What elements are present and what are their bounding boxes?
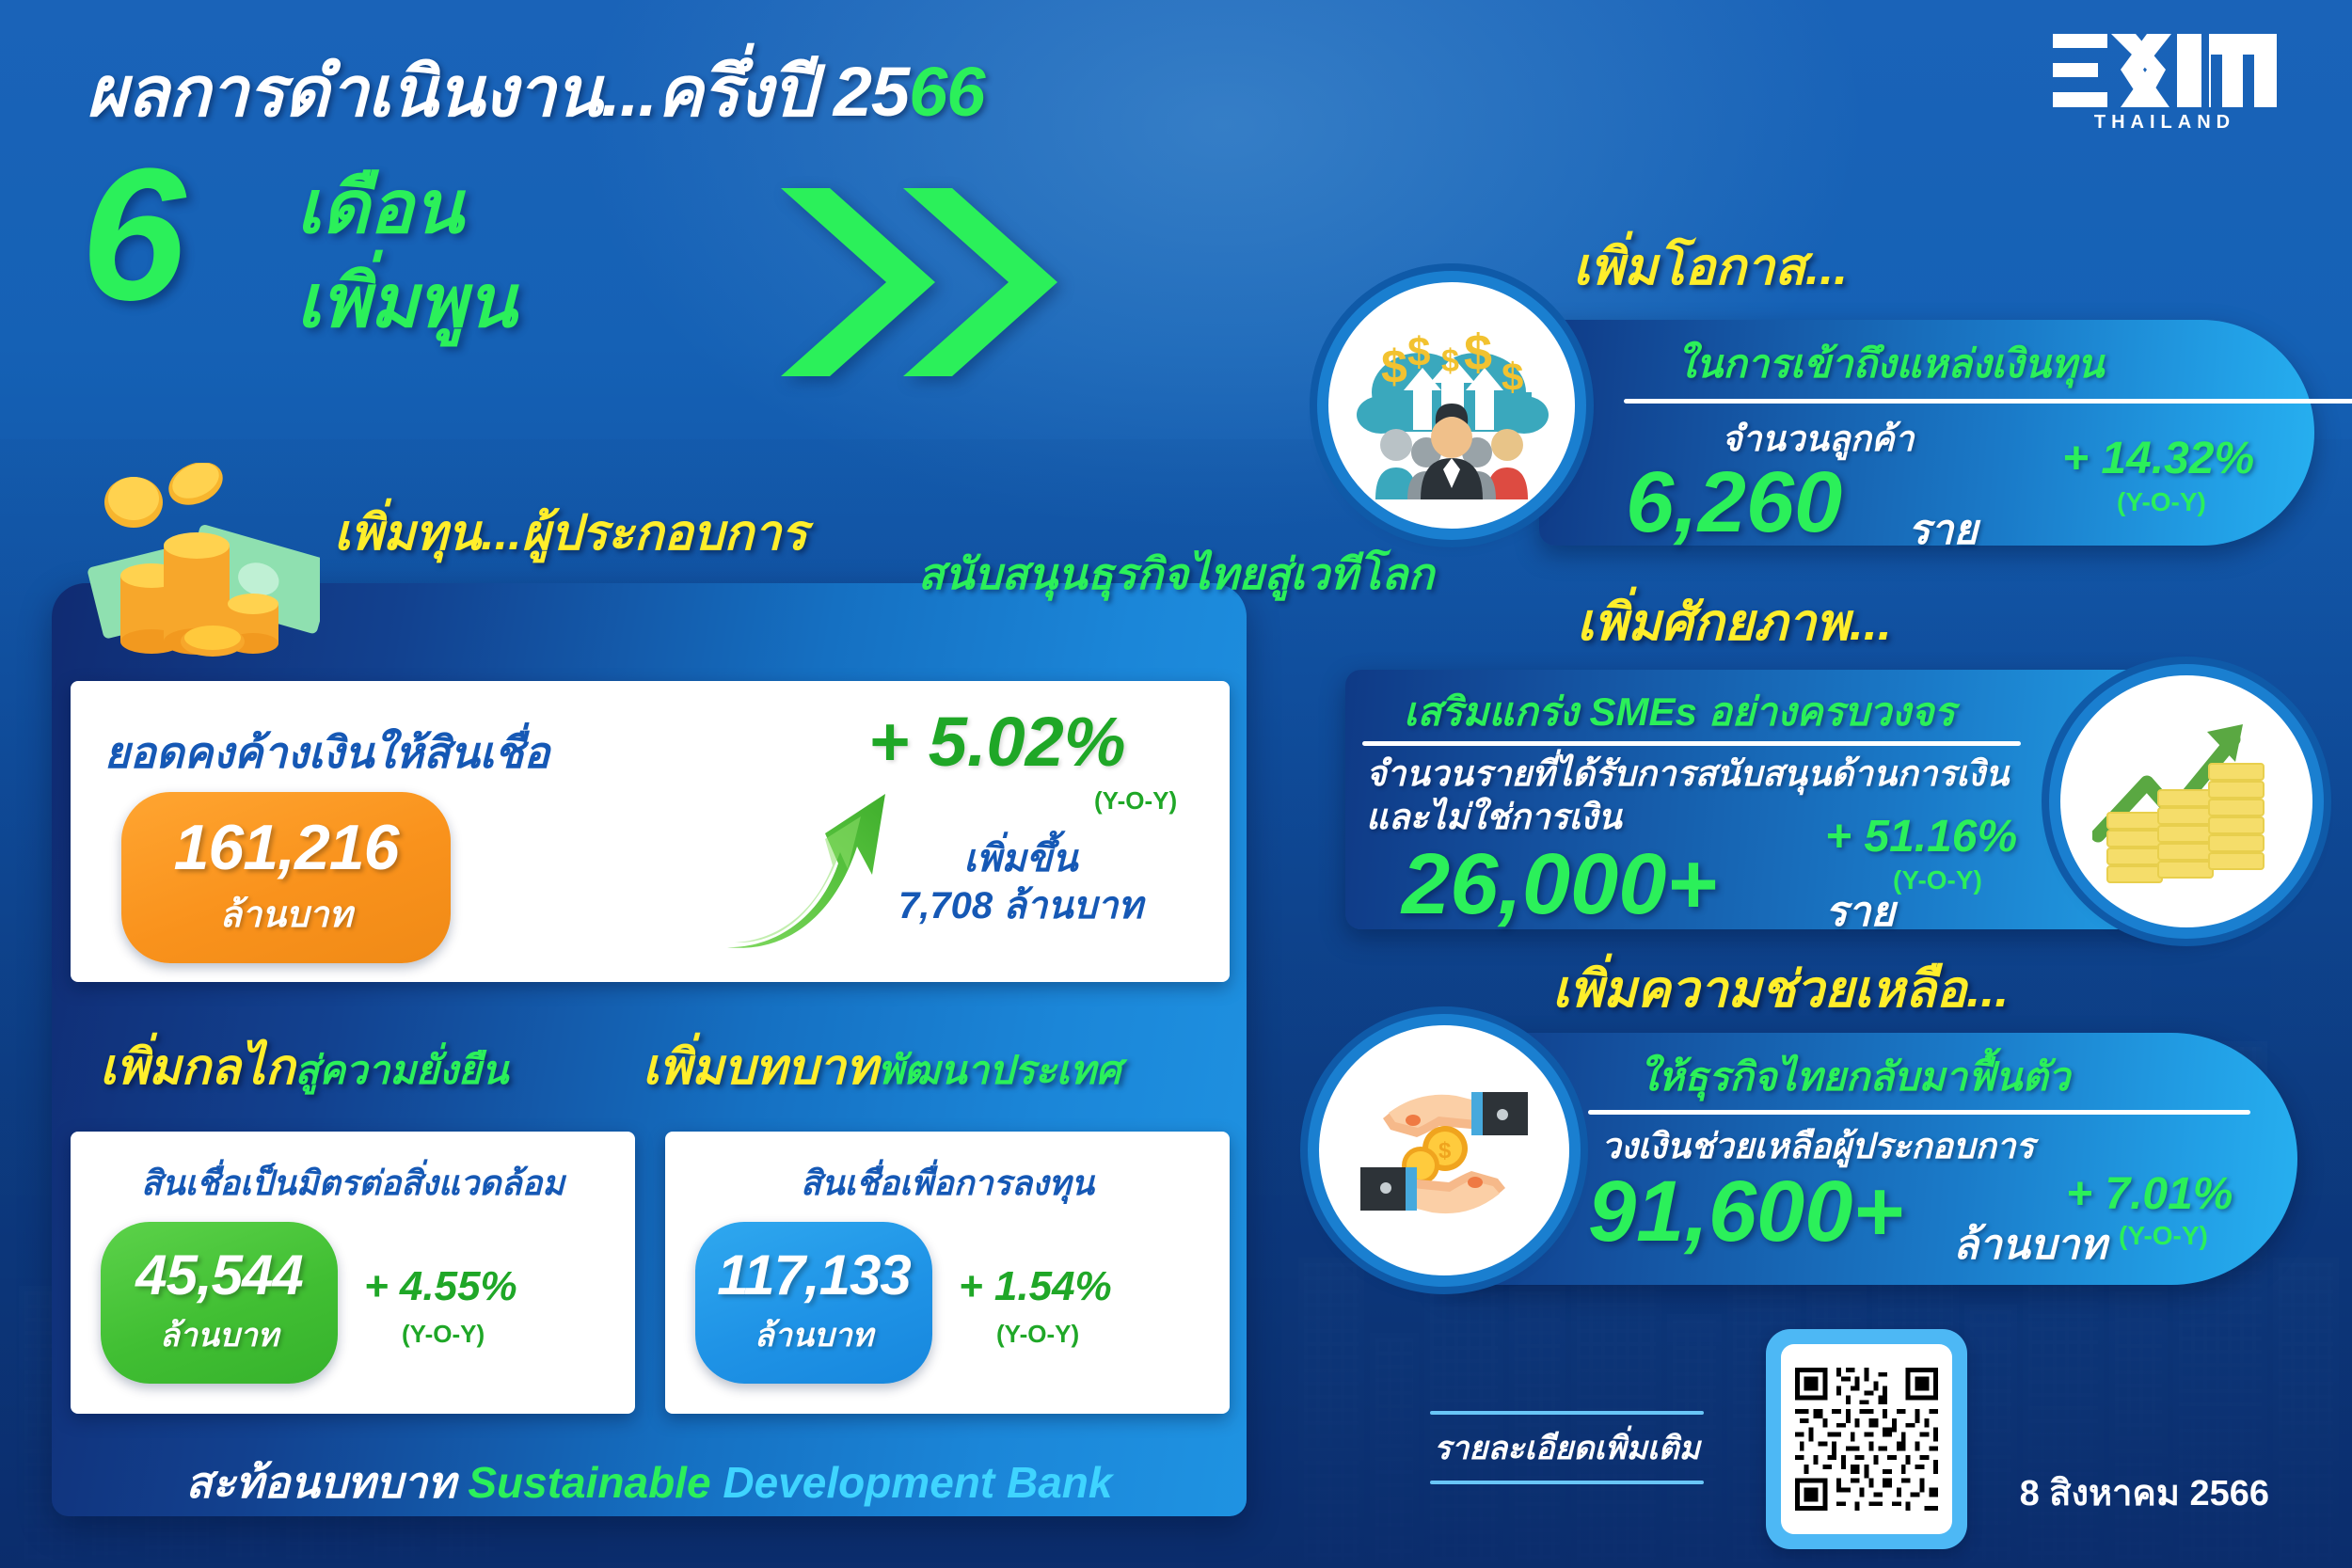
right-section-2-subtitle: เสริมแกร่ง SMEs อย่างครบวงจร: [1404, 681, 1955, 743]
footer-sustainable-text: Sustainable: [468, 1458, 710, 1507]
investment-loan-yoy: (Y-O-Y): [996, 1320, 1079, 1349]
right-section-3-value: 91,600+: [1588, 1163, 1903, 1261]
sub-heading-2: เพิ่มบทบาทพัฒนาประเทศ: [643, 1027, 1121, 1105]
svg-text:$: $: [1502, 355, 1523, 399]
right-section-3-title: เพิ่มความช่วยเหลือ...: [1552, 948, 2009, 1029]
right-section-1-subtitle: ในการเข้าถึงแหล่งเงินทุน: [1677, 333, 2104, 395]
loan-outstanding-unit: ล้านบาท: [219, 885, 352, 942]
footer-development-bank-text: Development Bank: [723, 1458, 1112, 1507]
sub-heading-1-green: สู่ความยั่งยืน: [294, 1048, 508, 1092]
right-section-1-unit: ราย: [1908, 497, 1978, 562]
green-loan-value: 45,544: [135, 1245, 303, 1306]
green-loan-value-box: 45,544 ล้านบาท: [101, 1222, 338, 1384]
sub-heading-1: เพิ่มกลไกสู่ความยั่งยืน: [100, 1027, 508, 1105]
loan-increase-note: เพิ่มขึ้น 7,708 ล้านบาท: [898, 835, 1143, 929]
sub-heading-2-green: พัฒนาประเทศ: [878, 1048, 1120, 1092]
right-section-2-unit: ราย: [1825, 879, 1895, 944]
right-section-1-percent: + 14.32%: [2062, 433, 2254, 484]
right-section-1-value: 6,260: [1626, 453, 1842, 552]
left-panel-footer: สะท้อนบทบาท Sustainable Development Bank: [52, 1449, 1247, 1517]
right-section-3-divider: [1588, 1110, 2250, 1115]
right-section-2-caption-line1: จำนวนรายที่ได้รับการสนับสนุนด้านการเงิน: [1366, 752, 2009, 796]
green-loan-yoy: (Y-O-Y): [402, 1320, 485, 1349]
sub-heading-1-yellow: เพิ่มกลไก: [100, 1040, 294, 1095]
investment-loan-value: 117,133: [717, 1245, 910, 1306]
loan-increase-line1: เพิ่มขึ้น: [898, 835, 1143, 882]
investment-loan-unit: ล้านบาท: [755, 1309, 873, 1360]
publication-date: 8 สิงหาคม 2566: [2020, 1464, 2269, 1521]
investment-loan-title: สินเชื่อเพื่อการลงทุน: [665, 1156, 1230, 1210]
exim-logo-subtext: THAILAND: [2053, 112, 2277, 134]
page-title-year: 66: [909, 53, 984, 131]
sub-heading-2-yellow: เพิ่มบทบาท: [643, 1040, 878, 1095]
exim-thailand-logo: THAILAND: [2053, 34, 2277, 134]
more-details-label: รายละเอียดเพิ่มเติม: [1430, 1411, 1704, 1484]
coin-growth-chart-icon: [2060, 675, 2312, 927]
right-section-2-divider: [1362, 741, 2021, 746]
loan-outstanding-value-box: 161,216 ล้านบาท: [121, 792, 451, 963]
right-section-1-divider: [1624, 399, 2352, 404]
green-loan-card: สินเชื่อเป็นมิตรต่อสิ่งแวดล้อม 45,544 ล้…: [71, 1132, 635, 1414]
investment-loan-percent: + 1.54%: [959, 1263, 1112, 1310]
right-section-2-yoy: (Y-O-Y): [1893, 865, 1982, 895]
right-section-3-yoy: (Y-O-Y): [2119, 1221, 2208, 1251]
svg-text:$: $: [1441, 343, 1459, 379]
right-section-1-title: เพิ่มโอกาส...: [1573, 226, 1848, 307]
page-title: ผลการดำเนินงาน...ครึ่งปี 2566: [87, 36, 984, 147]
hero-word-line2: เพิ่มพูน: [296, 261, 516, 341]
loan-outstanding-label: ยอดคงค้างเงินให้สินเชื่อ: [104, 719, 549, 787]
loan-outstanding-card: ยอดคงค้างเงินให้สินเชื่อ 161,216 ล้านบาท…: [71, 681, 1230, 982]
page-title-text: ผลการดำเนินงาน...ครึ่งปี 25: [87, 53, 909, 131]
footer-thai-text: สะท้อนบทบาท: [186, 1458, 456, 1507]
right-section-1-yoy: (Y-O-Y): [2117, 487, 2206, 517]
loan-increase-line2: 7,708 ล้านบาท: [898, 882, 1143, 929]
right-section-3-unit: ล้านบาท: [1953, 1212, 2106, 1277]
svg-text:$: $: [1407, 329, 1430, 375]
hero-word-line1: เดือน: [296, 167, 463, 246]
helping-hands-coin-icon: $: [1319, 1025, 1569, 1275]
loan-outstanding-yoy: (Y-O-Y): [1094, 786, 1177, 816]
infographic-canvas: ผลการดำเนินงาน...ครึ่งปี 2566 THAILAND 6…: [0, 0, 2352, 1568]
qr-code-icon[interactable]: [1766, 1329, 1967, 1549]
left-panel-subtitle: สนับสนุนธุรกิจไทยสู่เวทีโลก: [0, 540, 2352, 609]
svg-text:$: $: [1381, 341, 1407, 393]
right-section-2-percent: + 51.16%: [1825, 811, 2017, 863]
green-loan-percent: + 4.55%: [364, 1263, 517, 1310]
hero-number: 6: [81, 141, 185, 329]
green-up-arrow-icon: [720, 783, 908, 966]
svg-text:$: $: [1438, 1138, 1452, 1164]
right-section-3-subtitle: ให้ธุรกิจไทยกลับมาฟื้นตัว: [1639, 1046, 2070, 1108]
investment-loan-card: สินเชื่อเพื่อการลงทุน 117,133 ล้านบาท + …: [665, 1132, 1230, 1414]
right-section-3-percent: + 7.01%: [2066, 1168, 2233, 1220]
green-loan-title: สินเชื่อเป็นมิตรต่อสิ่งแวดล้อม: [71, 1156, 635, 1210]
right-section-2-value: 26,000+: [1402, 835, 1717, 934]
double-chevron-right-icon: [781, 188, 1082, 376]
investment-loan-value-box: 117,133 ล้านบาท: [695, 1222, 932, 1384]
svg-text:$: $: [1464, 325, 1492, 381]
right-section-2-title: เพิ่มศักยภาพ...: [1577, 581, 1892, 662]
loan-outstanding-value: 161,216: [174, 814, 399, 881]
people-funding-access-icon: $ $ $ $ $: [1328, 282, 1575, 529]
loan-outstanding-percent: + 5.02%: [868, 702, 1126, 782]
exim-logo-icon: [2053, 34, 2277, 107]
green-loan-unit: ล้านบาท: [160, 1309, 278, 1360]
